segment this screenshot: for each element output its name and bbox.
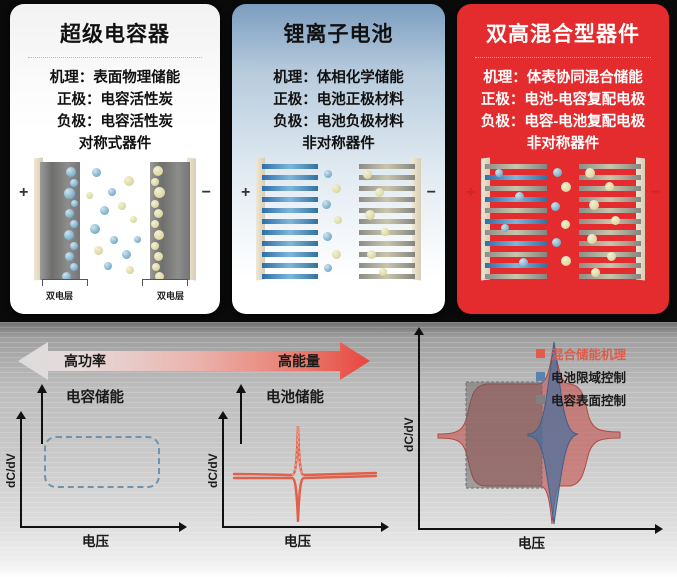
legend-item[interactable]: 混合储能机理 bbox=[536, 344, 626, 363]
legend-swatch-hybrid bbox=[536, 349, 545, 358]
x-axis-label: 电压 bbox=[518, 532, 545, 552]
high-energy-label: 高能量 bbox=[278, 351, 320, 371]
spec-item: 非对称器件 bbox=[242, 133, 435, 155]
y-axis-label: dC/dV bbox=[206, 453, 220, 488]
edl-label-right: 双电层 bbox=[157, 289, 184, 302]
cv-curve-battery bbox=[226, 418, 386, 528]
x-axis bbox=[20, 526, 180, 528]
spec-item: 正极：电池正极材料 bbox=[242, 89, 435, 111]
power-energy-arrow: 高功率 高能量 bbox=[18, 340, 370, 382]
legend-label: 混合储能机理 bbox=[551, 344, 626, 363]
electrode-right-composite bbox=[579, 162, 641, 280]
legend-item[interactable]: 电容表面控制 bbox=[536, 390, 626, 409]
legend-label: 电池限域控制 bbox=[551, 367, 626, 386]
spec-item: 机理：体相化学储能 bbox=[242, 67, 435, 89]
y-axis bbox=[20, 418, 22, 528]
title-divider bbox=[475, 57, 651, 58]
y-axis-label: dC/dV bbox=[402, 417, 416, 452]
title-divider bbox=[250, 57, 427, 58]
electrode-left-composite bbox=[485, 162, 547, 280]
y-axis-label: dC/dV bbox=[4, 453, 18, 488]
card-title: 双高混合型器件 bbox=[457, 18, 669, 48]
positive-sign: + bbox=[19, 184, 28, 202]
electrode-right-layered bbox=[359, 162, 415, 280]
chart-legend: 混合储能机理 电池限域控制 电容表面控制 bbox=[536, 344, 626, 413]
pointer-label-battery: 电池储能 bbox=[266, 386, 324, 407]
electrode-left-layered bbox=[262, 162, 318, 280]
spec-item: 正极：电容活性炭 bbox=[20, 89, 210, 111]
card-dual-high-hybrid-device[interactable]: 双高混合型器件 机理：体表协同混合储能 正极：电池-电容复配电极 负极：电容-电… bbox=[457, 4, 669, 314]
spec-item: 机理：表面物理储能 bbox=[20, 67, 210, 89]
negative-sign: − bbox=[202, 184, 211, 202]
comparison-panel: 高功率 高能量 电容储能 电池储能 dC/dV 电压 dC/dV 电压 bbox=[0, 322, 677, 577]
title-divider bbox=[28, 57, 202, 58]
spec-item: 负极：电池负极材料 bbox=[242, 111, 435, 133]
cv-rectangle-capacitive bbox=[44, 436, 160, 488]
electrode-cell-diagram: + − bbox=[232, 158, 445, 310]
negative-sign: − bbox=[427, 184, 436, 202]
legend-swatch-capacitive bbox=[536, 395, 545, 404]
spec-list: 机理：体表协同混合储能 正极：电池-电容复配电极 负极：电容-电池复配电极 非对… bbox=[457, 67, 669, 155]
spec-item: 正极：电池-电容复配电极 bbox=[467, 89, 659, 111]
card-supercapacitor[interactable]: 超级电容器 机理：表面物理储能 正极：电容活性炭 负极：电容活性炭 对称式器件 … bbox=[10, 4, 220, 314]
x-axis-label: 电压 bbox=[82, 530, 109, 550]
positive-sign: + bbox=[241, 184, 250, 202]
negative-sign: − bbox=[651, 184, 660, 202]
spec-item: 对称式器件 bbox=[20, 133, 210, 155]
card-title: 超级电容器 bbox=[10, 18, 220, 48]
edl-bracket-left bbox=[42, 279, 88, 286]
spec-item: 机理：体表协同混合储能 bbox=[467, 67, 659, 89]
spec-item: 非对称器件 bbox=[467, 133, 659, 155]
spec-list: 机理：体相化学储能 正极：电池正极材料 负极：电池负极材料 非对称器件 bbox=[232, 67, 445, 155]
positive-sign: + bbox=[466, 184, 475, 202]
edl-bracket-right bbox=[142, 279, 188, 286]
chart-capacitive-storage: dC/dV 电压 bbox=[20, 418, 190, 528]
x-axis bbox=[418, 528, 656, 530]
x-axis-label: 电压 bbox=[284, 530, 311, 550]
high-power-label: 高功率 bbox=[64, 351, 106, 371]
device-cards: 超级电容器 机理：表面物理储能 正极：电容活性炭 负极：电容活性炭 对称式器件 … bbox=[0, 0, 677, 318]
figure-root: 超级电容器 机理：表面物理储能 正极：电容活性炭 负极：电容活性炭 对称式器件 … bbox=[0, 0, 677, 577]
card-title: 锂离子电池 bbox=[232, 18, 445, 48]
chart-battery-storage: dC/dV 电压 bbox=[222, 418, 392, 528]
spec-item: 负极：电容-电池复配电极 bbox=[467, 111, 659, 133]
electrode-right bbox=[150, 162, 190, 280]
electrode-left bbox=[40, 162, 80, 280]
legend-item[interactable]: 电池限域控制 bbox=[536, 367, 626, 386]
legend-swatch-battery bbox=[536, 372, 545, 381]
pointer-label-capacitive: 电容储能 bbox=[66, 386, 124, 407]
edl-label-left: 双电层 bbox=[46, 289, 73, 302]
y-axis bbox=[222, 418, 224, 528]
electrode-cell-diagram: + − bbox=[457, 158, 669, 310]
chart-hybrid-storage: dC/dV 电压 混合储能机理 电池限域控制 bbox=[418, 334, 668, 530]
electrode-cell-diagram: + − bbox=[10, 158, 220, 310]
spec-item: 负极：电容活性炭 bbox=[20, 111, 210, 133]
card-lithium-ion-battery[interactable]: 锂离子电池 机理：体相化学储能 正极：电池正极材料 负极：电池负极材料 非对称器… bbox=[232, 4, 445, 314]
legend-label: 电容表面控制 bbox=[551, 390, 626, 409]
spec-list: 机理：表面物理储能 正极：电容活性炭 负极：电容活性炭 对称式器件 bbox=[10, 67, 220, 155]
